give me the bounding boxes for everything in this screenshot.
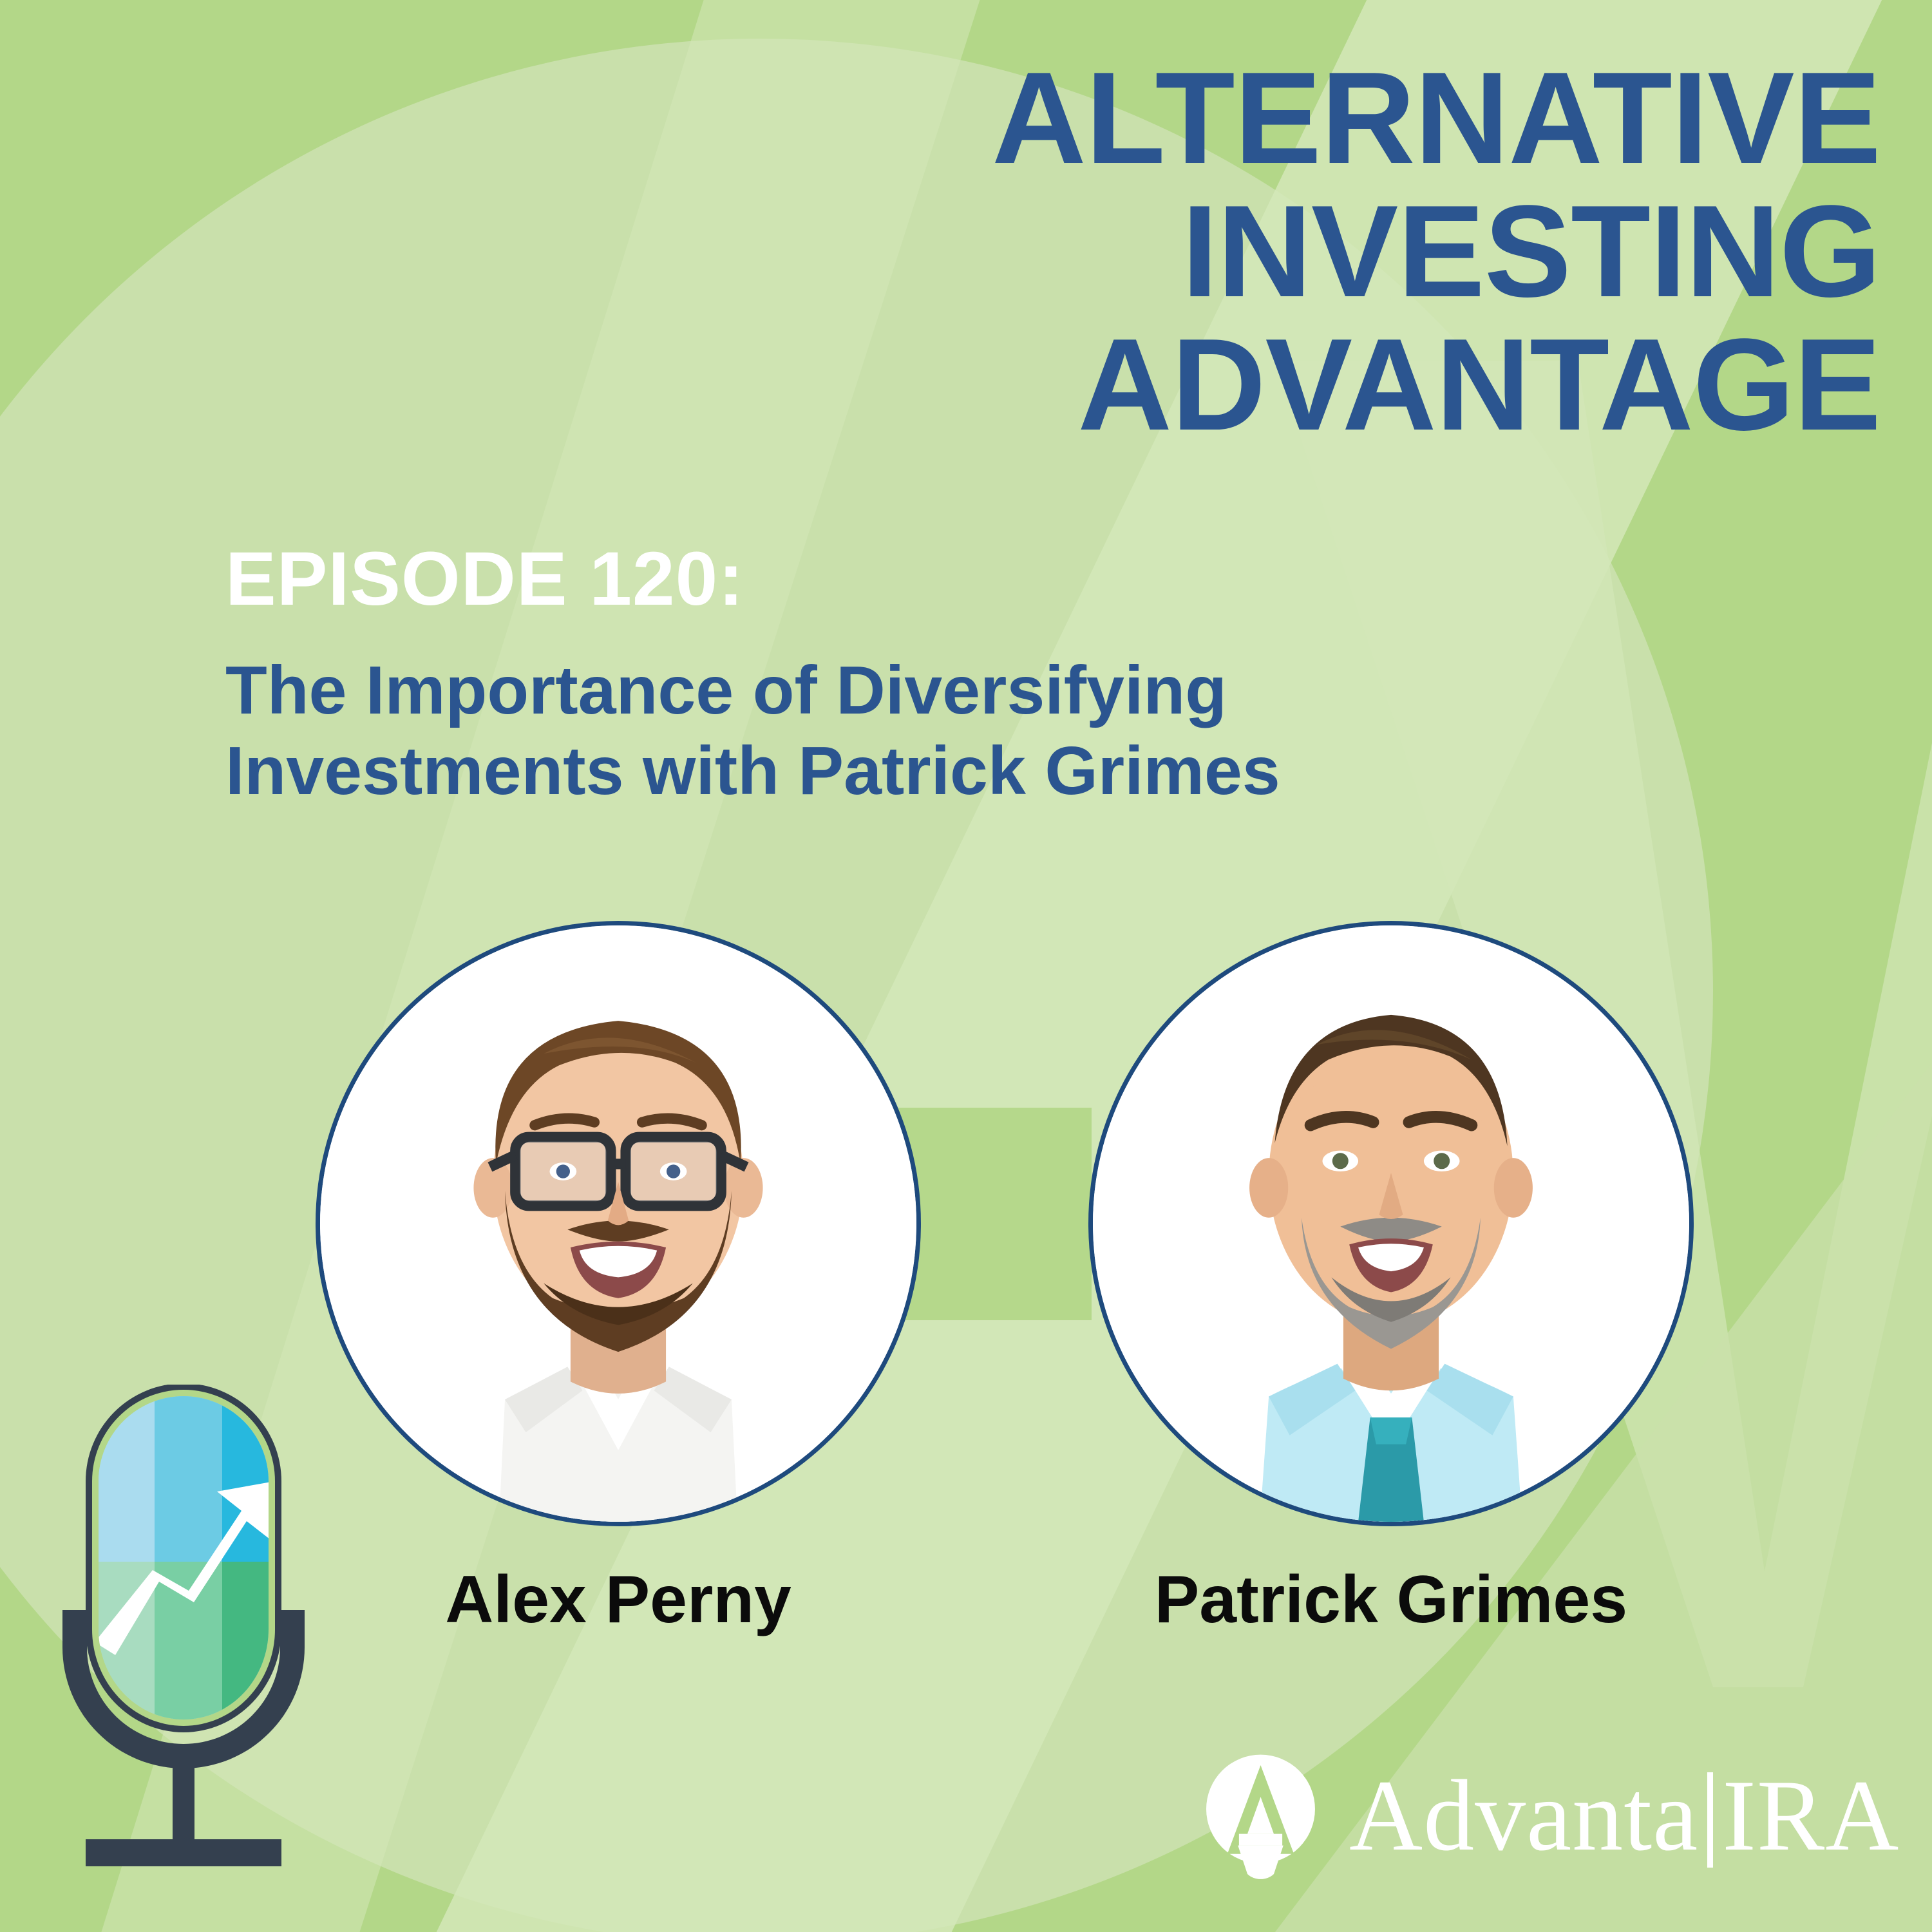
show-title-line-1: ALTERNATIVE [728, 52, 1880, 185]
episode-title: The Importance of Diversifying Investmen… [225, 650, 1739, 811]
episode-number-label: EPISODE 120: [225, 541, 744, 617]
episode-title-line-2: Investments with Patrick Grimes [225, 731, 1739, 811]
podcast-microphone-icon [48, 1385, 319, 1893]
episode-title-line-1: The Importance of Diversifying [225, 650, 1739, 731]
mic-stem [173, 1745, 194, 1842]
monogram-tail [1238, 1846, 1283, 1879]
podcast-cover-art: ALTERNATIVE INVESTING ADVANTAGE EPISODE … [0, 0, 1932, 1932]
advanta-ira-logo: AdvantaIRA [1195, 1748, 1877, 1897]
brand-name-primary: Advanta [1349, 1759, 1698, 1872]
brand-name-secondary: IRA [1722, 1759, 1899, 1872]
portrait-patrick-grimes-svg [1093, 925, 1689, 1522]
show-title-line-3: ADVANTAGE [728, 318, 1880, 451]
advanta-ira-wordmark: AdvantaIRA [1349, 1760, 1899, 1872]
show-title: ALTERNATIVE INVESTING ADVANTAGE [728, 52, 1880, 451]
show-title-line-2: INVESTING [728, 185, 1880, 318]
host-name-patrick-grimes: Patrick Grimes [1088, 1566, 1694, 1633]
microphone-svg [48, 1385, 319, 1893]
portrait-alex-perny-svg [320, 925, 916, 1522]
mic-base [86, 1839, 281, 1866]
advanta-monogram-svg [1195, 1754, 1327, 1886]
background-center-notch [898, 1108, 1092, 1320]
advanta-a-monogram-icon [1195, 1754, 1327, 1886]
headshot-alex-perny [316, 921, 921, 1526]
headshot-patrick-grimes [1088, 921, 1694, 1526]
brand-separator [1707, 1772, 1713, 1868]
host-name-alex-perny: Alex Perny [316, 1566, 921, 1633]
